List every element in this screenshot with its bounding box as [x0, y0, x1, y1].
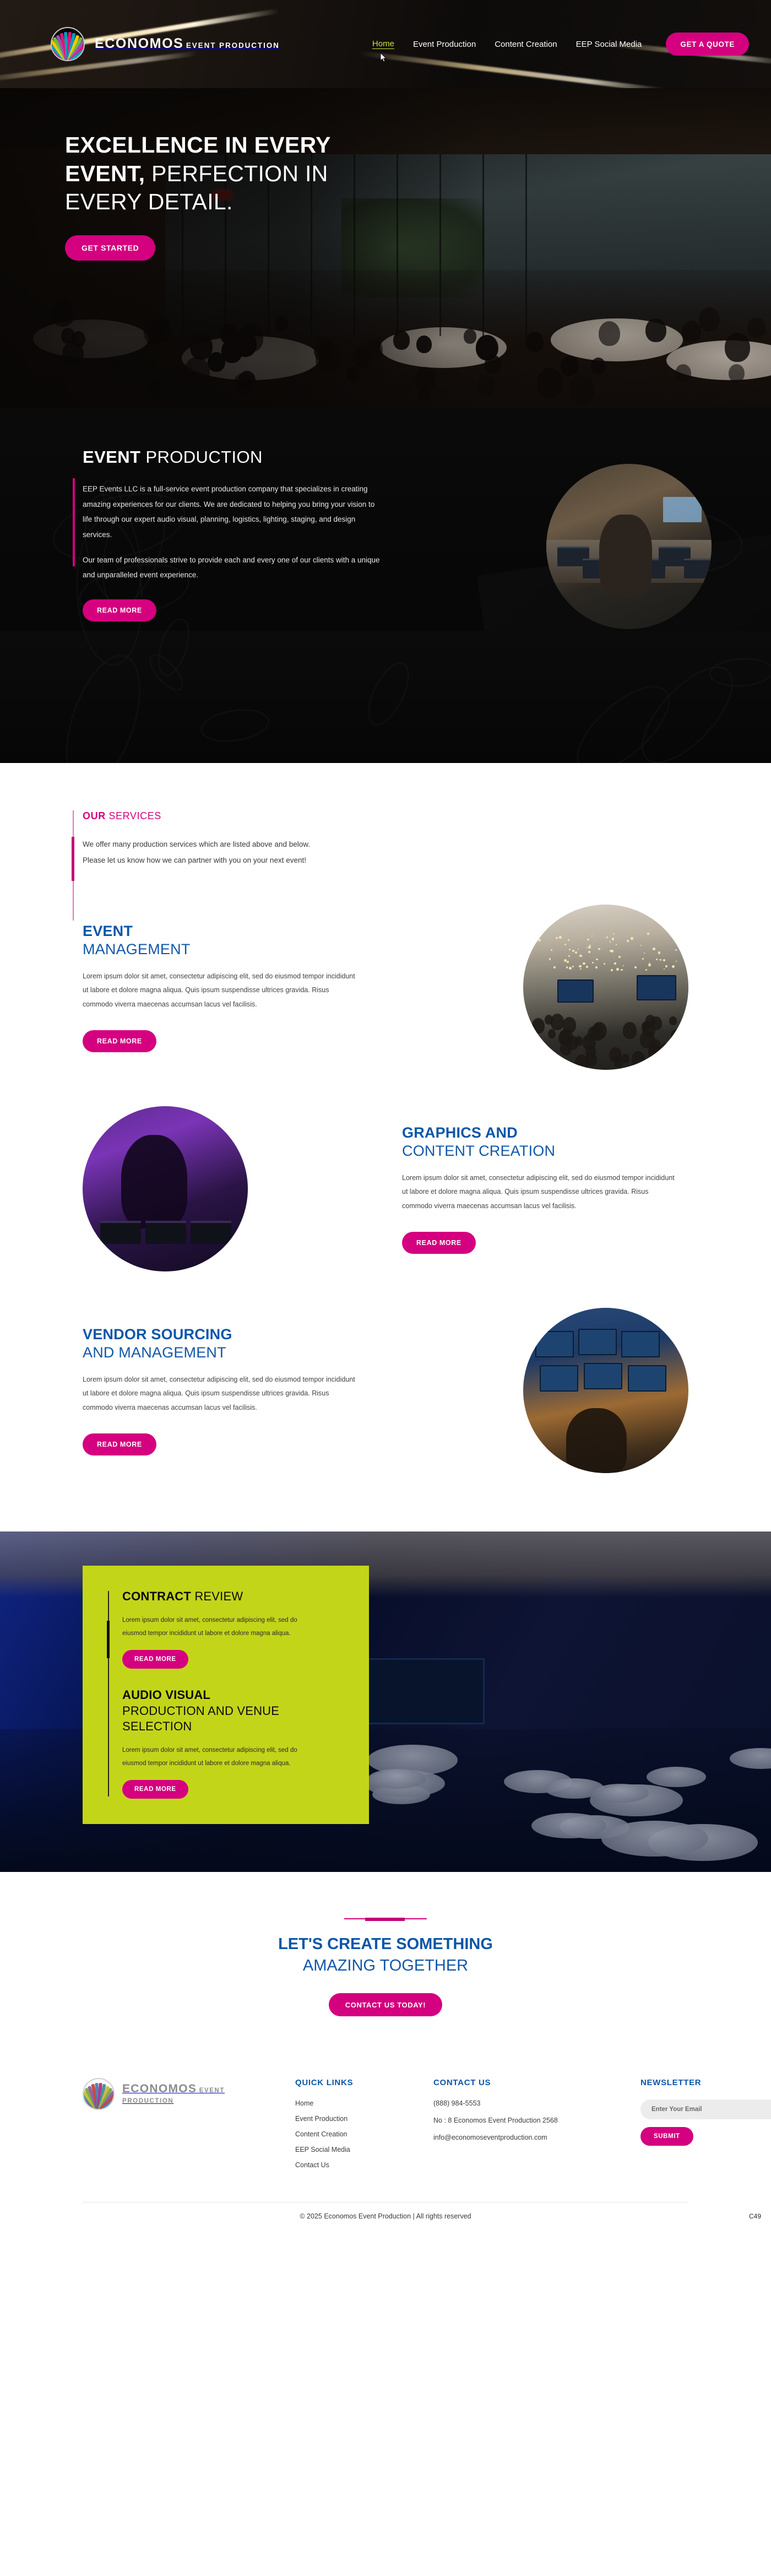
footer-contact-heading: CONTACT US [433, 2078, 615, 2087]
hero-section: EXCELLENCE IN EVERY EVENT, PERFECTION IN… [0, 88, 771, 408]
our-services-kicker-light: SERVICES [106, 810, 161, 821]
contract-review-title-light: REVIEW [191, 1589, 243, 1603]
nav-item-content-creation[interactable]: Content Creation [495, 40, 557, 49]
highlight-section: CONTRACT REVIEW Lorem ipsum dolor sit am… [0, 1531, 771, 1872]
highlight-rail-thick [107, 1621, 110, 1658]
our-services-lead: We offer many production services which … [83, 836, 319, 868]
logo-tagline: EVENT PRODUCTION [186, 41, 280, 50]
event-production-circle-photo [546, 464, 712, 629]
our-services-header: OUR SERVICES We offer many production se… [0, 810, 771, 868]
highlight-card: CONTRACT REVIEW Lorem ipsum dolor sit am… [83, 1566, 369, 1824]
event-production-title: EVENT PRODUCTION [83, 447, 397, 467]
logo-burst-icon [83, 2078, 115, 2110]
service-row-event-management: EVENT MANAGEMENT Lorem ipsum dolor sit a… [0, 868, 771, 1070]
event-production-title-bold: EVENT [83, 447, 140, 467]
service-read-more-button[interactable]: READ MORE [83, 1433, 156, 1455]
site-logo[interactable]: ECONOMOS EVENT PRODUCTION [51, 27, 280, 61]
footer-logo-name: ECONOMOS [122, 2082, 197, 2095]
event-production-title-light: PRODUCTION [140, 447, 262, 467]
cta-title: LET'S CREATE SOMETHING AMAZING TOGETHER [0, 1934, 771, 1977]
cta-section: LET'S CREATE SOMETHING AMAZING TOGETHER … [0, 1872, 771, 2059]
footer-columns: ECONOMOS EVENT PRODUCTION QUICK LINKS Ho… [83, 2078, 688, 2177]
service-title: EVENT MANAGEMENT [83, 922, 369, 959]
audio-visual-title-light: PRODUCTION AND VENUE SELECTION [122, 1704, 279, 1734]
our-services-kicker-bold: OUR [83, 810, 106, 821]
contract-review-title: CONTRACT REVIEW [122, 1589, 344, 1605]
logo-burst-icon [51, 27, 85, 61]
event-production-read-more-button[interactable]: READ MORE [83, 599, 156, 621]
mouse-cursor-icon [379, 52, 388, 63]
get-a-quote-button[interactable]: GET A QUOTE [666, 33, 749, 56]
contract-review-title-bold: CONTRACT [122, 1589, 191, 1603]
site-footer: ECONOMOS EVENT PRODUCTION QUICK LINKS Ho… [0, 2059, 771, 2229]
service-title-light: AND MANAGEMENT [83, 1344, 226, 1361]
footer-link-content-creation[interactable]: Content Creation [295, 2130, 408, 2138]
service-copy: VENDOR SOURCING AND MANAGEMENT Lorem ips… [83, 1325, 369, 1455]
service-read-more-button[interactable]: READ MORE [83, 1030, 156, 1052]
service-copy: GRAPHICS AND CONTENT CREATION Lorem ipsu… [402, 1124, 688, 1254]
audio-visual-title-bold: AUDIO VISUAL [122, 1688, 210, 1702]
contract-review-read-more-button[interactable]: READ MORE [122, 1650, 188, 1669]
audio-visual-read-more-button[interactable]: READ MORE [122, 1780, 188, 1799]
nav-item-home-wrap: Home [372, 39, 394, 49]
service-circle-photo-event-management [523, 905, 688, 1070]
hero-title-line1: EXCELLENCE IN EVERY [65, 132, 331, 158]
site-header: ECONOMOS EVENT PRODUCTION Home Event Pro… [0, 0, 771, 88]
our-services-section: OUR SERVICES We offer many production se… [0, 763, 771, 1484]
newsletter-submit-button[interactable]: SUBMIT [640, 2127, 693, 2146]
hero-content: EXCELLENCE IN EVERY EVENT, PERFECTION IN… [0, 88, 496, 261]
service-read-more-button[interactable]: READ MORE [402, 1232, 476, 1254]
logo-wordmark: ECONOMOS EVENT PRODUCTION [95, 36, 280, 51]
newsletter-email-input[interactable] [640, 2099, 771, 2119]
service-title-bold: EVENT [83, 923, 133, 939]
service-title-light: MANAGEMENT [83, 941, 191, 957]
footer-link-eep-social-media[interactable]: EEP Social Media [295, 2146, 408, 2153]
card-divider-space [122, 1669, 344, 1687]
footer-link-contact-us[interactable]: Contact Us [295, 2161, 408, 2169]
event-production-section: EVENT PRODUCTION EEP Events LLC is a ful… [0, 408, 771, 763]
footer-quick-links-heading: QUICK LINKS [295, 2078, 408, 2087]
service-title: GRAPHICS AND CONTENT CREATION [402, 1124, 688, 1160]
hero-title-line3: EVERY DETAIL. [65, 189, 233, 214]
footer-link-event-production[interactable]: Event Production [295, 2115, 408, 2123]
service-body: Lorem ipsum dolor sit amet, consectetur … [402, 1171, 677, 1213]
footer-logo[interactable]: ECONOMOS EVENT PRODUCTION [83, 2078, 270, 2110]
get-started-button[interactable]: GET STARTED [65, 235, 155, 261]
footer-address: No : 8 Economos Event Production 2568 [433, 2115, 615, 2126]
logo-name: ECONOMOS [95, 36, 183, 51]
footer-email[interactable]: info@economoseventproduction.com [433, 2134, 615, 2141]
page-root: ECONOMOS EVENT PRODUCTION Home Event Pro… [0, 0, 771, 2229]
light-streak-icon [359, 51, 666, 88]
service-title-light: CONTENT CREATION [402, 1143, 555, 1159]
footer-newsletter: NEWSLETTER SUBMIT [640, 2078, 771, 2146]
event-production-paragraph-1: EEP Events LLC is a full-service event p… [83, 481, 383, 543]
service-title: VENDOR SOURCING AND MANAGEMENT [83, 1325, 369, 1362]
service-copy: EVENT MANAGEMENT Lorem ipsum dolor sit a… [83, 922, 369, 1052]
hero-title: EXCELLENCE IN EVERY EVENT, PERFECTION IN… [65, 131, 496, 217]
footer-contact: CONTACT US (888) 984-5553 No : 8 Economo… [433, 2078, 615, 2149]
service-row-graphics-content: GRAPHICS AND CONTENT CREATION Lorem ipsu… [0, 1070, 771, 1271]
service-body: Lorem ipsum dolor sit amet, consectetur … [83, 1373, 358, 1415]
service-body: Lorem ipsum dolor sit amet, consectetur … [83, 970, 358, 1011]
nav-item-event-production[interactable]: Event Production [413, 40, 476, 49]
copyright-text: © 2025 Economos Event Production | All r… [300, 2212, 471, 2220]
service-title-bold: VENDOR SOURCING [83, 1326, 232, 1343]
event-production-content: EVENT PRODUCTION EEP Events LLC is a ful… [0, 408, 397, 621]
nav-item-eep-social-media[interactable]: EEP Social Media [576, 40, 642, 49]
footer-copyright-bar: © 2025 Economos Event Production | All r… [83, 2202, 688, 2229]
hero-title-line2-light: PERFECTION IN [145, 161, 328, 186]
footer-newsletter-heading: NEWSLETTER [640, 2078, 771, 2087]
audio-visual-title: AUDIO VISUAL PRODUCTION AND VENUE SELECT… [122, 1687, 344, 1735]
services-rail-thick [72, 837, 74, 881]
highlight-rail-wrap: CONTRACT REVIEW Lorem ipsum dolor sit am… [108, 1589, 344, 1799]
audio-visual-body: Lorem ipsum dolor sit amet, consectetur … [122, 1744, 321, 1770]
footer-quick-links: QUICK LINKS Home Event Production Conten… [295, 2078, 408, 2177]
contract-review-body: Lorem ipsum dolor sit amet, consectetur … [122, 1614, 321, 1640]
hero-title-line2-bold: EVENT, [65, 161, 145, 186]
footer-logo-wordmark: ECONOMOS EVENT PRODUCTION [122, 2083, 270, 2106]
service-circle-photo-content-creation [83, 1106, 248, 1271]
main-navigation: Home Event Production Content Creation E… [372, 33, 749, 56]
service-title-bold: GRAPHICS AND [402, 1124, 518, 1141]
service-circle-photo-vendor-sourcing [523, 1308, 688, 1473]
cta-divider [344, 1918, 427, 1919]
cta-title-line2: AMAZING TOGETHER [303, 1957, 468, 1974]
nav-item-home[interactable]: Home [372, 39, 394, 48]
service-row-vendor-sourcing: VENDOR SOURCING AND MANAGEMENT Lorem ips… [0, 1271, 771, 1473]
footer-link-home[interactable]: Home [295, 2099, 408, 2107]
cta-title-line1: LET'S CREATE SOMETHING [278, 1935, 493, 1953]
corner-tag: C49 [749, 2212, 761, 2220]
our-services-kicker: OUR SERVICES [83, 810, 771, 822]
contact-us-today-button[interactable]: CONTACT US TODAY! [329, 1993, 442, 2016]
footer-phone[interactable]: (888) 984-5553 [433, 2099, 615, 2107]
event-production-paragraph-2: Our team of professionals strive to prov… [83, 553, 383, 583]
